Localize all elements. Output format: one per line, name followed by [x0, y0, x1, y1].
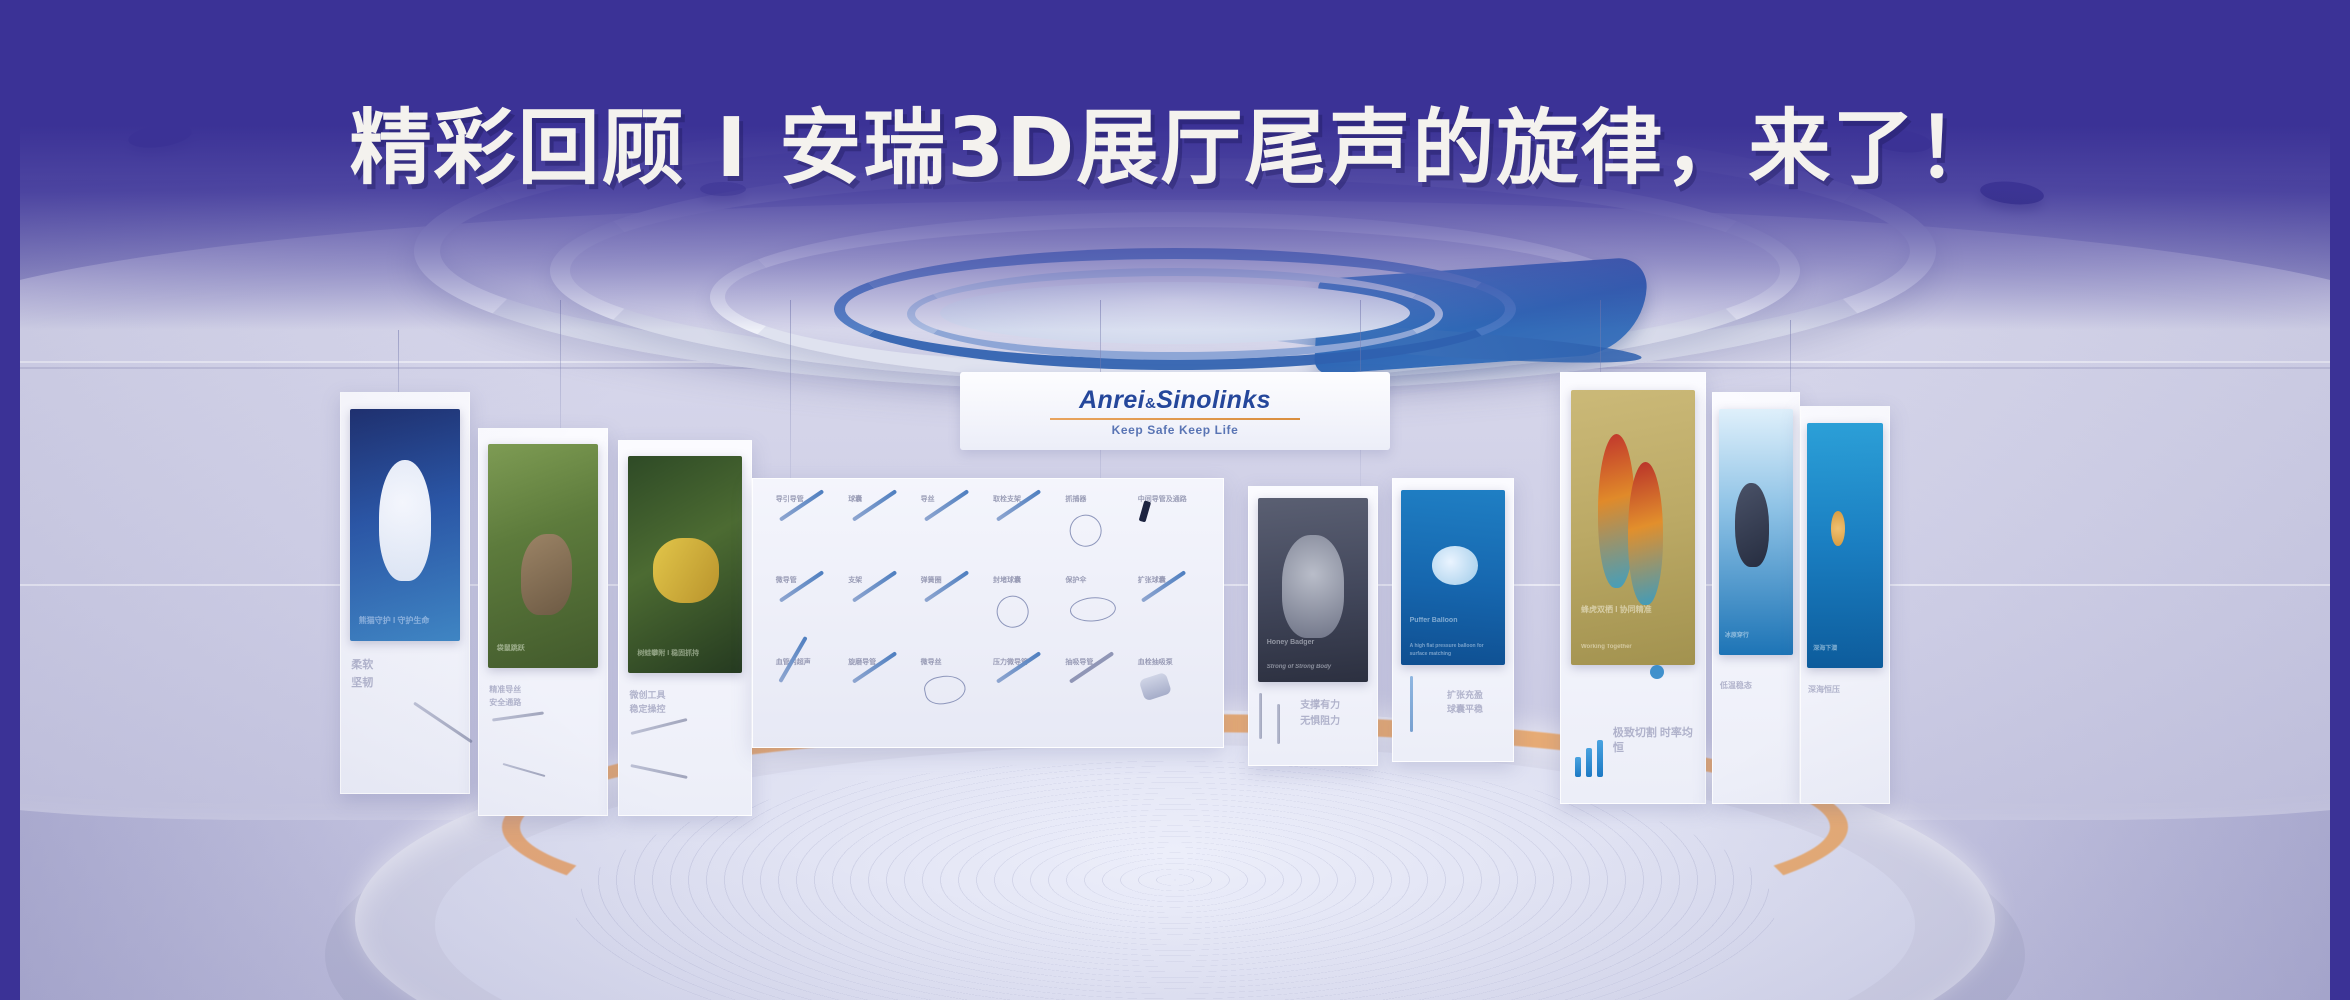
panel-note: 精准导丝 安全通路 — [489, 684, 597, 710]
product-label: 旋磨导管 — [848, 657, 876, 667]
device-sketch-icon — [413, 702, 473, 744]
brand-name-right: Sinolinks — [1156, 386, 1271, 414]
brand-tagline: Keep Safe Keep Life — [1112, 423, 1239, 437]
product-grid: 导引导管 球囊 导丝 取栓支架 抓捕器 中间导管及通路 微导管 支架 弹簧圈 封… — [772, 492, 1204, 733]
poster-headline: 蜂虎双栖 I 协同精准 — [1581, 604, 1685, 616]
product-cell[interactable]: 导引导管 — [772, 492, 842, 571]
product-cell[interactable]: 抽吸导管 — [1061, 655, 1131, 734]
product-cell[interactable]: 中间导管及通路 — [1134, 492, 1204, 571]
product-cell[interactable]: 抓捕器 — [1061, 492, 1131, 571]
display-panel-panda[interactable]: 熊猫守护 I 守护生命 柔软 坚韧 — [340, 392, 470, 794]
device-icon — [1139, 672, 1173, 702]
product-cell[interactable]: 保护伞 — [1061, 573, 1131, 652]
panel-note: 支撑有力 无惧阻力 — [1300, 698, 1367, 730]
product-label: 支架 — [848, 575, 862, 585]
poster-headline: 树蛙攀附 I 稳固抓持 — [637, 649, 732, 660]
poster-headline: Honey Badger — [1267, 638, 1360, 649]
poster-headline: 冰原穿行 — [1725, 632, 1787, 641]
brand-logo-band: Anrei&Sinolinks Keep Safe Keep Life — [960, 372, 1390, 450]
product-cell[interactable]: 支架 — [844, 573, 914, 652]
poster-subtext: Strong of Strong Body — [1267, 663, 1360, 672]
panel-note: 扩张充盈 球囊平稳 — [1447, 688, 1503, 717]
display-panel-frog[interactable]: 树蛙攀附 I 稳固抓持 微创工具 稳定操控 — [618, 440, 752, 816]
device-sketch-icon — [503, 763, 546, 777]
product-label: 封堵球囊 — [993, 575, 1021, 585]
panel-note: 深海恒压 — [1808, 684, 1882, 697]
display-panel-birds[interactable]: 蜂虎双栖 I 协同精准 Working Together 极致切割 时率均恒 — [1560, 372, 1706, 804]
product-label: 弹簧圈 — [921, 575, 942, 585]
product-cell[interactable]: 压力微导管 — [989, 655, 1059, 734]
product-cell[interactable]: 微导管 — [772, 573, 842, 652]
brand-ampersand: & — [1145, 395, 1156, 412]
poster-subtext: A high flat pressure balloon for surface… — [1410, 643, 1497, 658]
product-cell[interactable]: 扩张球囊 — [1134, 573, 1204, 652]
device-icon — [1067, 511, 1105, 549]
mini-bar-chart — [1575, 717, 1603, 777]
device-sketch-icon — [1410, 676, 1413, 732]
brand-underline — [1050, 418, 1300, 420]
product-cell[interactable]: 取栓支架 — [989, 492, 1059, 571]
poster-sea: 深海下潜 — [1807, 423, 1883, 669]
mini-chart-caption: 极致切割 时率均恒 — [1613, 726, 1694, 757]
product-label: 微导管 — [776, 575, 797, 585]
info-icon — [1650, 665, 1664, 679]
product-cell[interactable]: 球囊 — [844, 492, 914, 571]
poster-panda: 熊猫守护 I 守护生命 — [350, 409, 460, 641]
device-sketch-icon — [1277, 704, 1280, 744]
poster-subtext: Working Together — [1581, 643, 1685, 652]
product-label: 抓捕器 — [1065, 494, 1086, 504]
device-sketch-icon — [492, 711, 544, 721]
poster-headline: Puffer Balloon — [1410, 616, 1497, 627]
poster-headline: 袋鼠跳跃 — [497, 644, 590, 655]
product-label: 血栓抽吸泵 — [1138, 657, 1173, 667]
product-cell[interactable]: 血管内超声 — [772, 655, 842, 734]
product-cell[interactable]: 旋磨导管 — [844, 655, 914, 734]
display-panel-balloon[interactable]: Puffer Balloon A high flat pressure ball… — [1392, 478, 1514, 762]
product-cell[interactable]: 封堵球囊 — [989, 573, 1059, 652]
panel-note: 柔软 坚韧 — [351, 657, 459, 692]
ceiling-center-disc — [940, 282, 1410, 344]
device-sketch-icon — [630, 764, 687, 779]
poster-frog: 树蛙攀附 I 稳固抓持 — [628, 456, 742, 673]
poster-birds: 蜂虎双栖 I 协同精准 Working Together — [1571, 390, 1695, 665]
brand-name: Anrei&Sinolinks — [1079, 386, 1271, 415]
poster-balloon: Puffer Balloon A high flat pressure ball… — [1401, 490, 1504, 665]
bar — [1586, 748, 1592, 777]
display-panel-badger[interactable]: Honey Badger Strong of Strong Body 支撑有力 … — [1248, 486, 1378, 766]
exhibition-banner: 熊猫守护 I 守护生命 柔软 坚韧 袋鼠跳跃 精准导丝 安全通路 树蛙攀附 I … — [0, 0, 2350, 1000]
brand-name-left: Anrei — [1079, 386, 1145, 414]
bar — [1575, 757, 1581, 777]
device-icon — [1069, 596, 1116, 623]
product-display-wall[interactable]: 导引导管 球囊 导丝 取栓支架 抓捕器 中间导管及通路 微导管 支架 弹簧圈 封… — [752, 478, 1224, 748]
product-label: 球囊 — [848, 494, 862, 504]
product-label: 保护伞 — [1065, 575, 1086, 585]
bar — [1597, 740, 1603, 777]
display-panel-ice[interactable]: 冰原穿行 低温稳态 — [1712, 392, 1800, 804]
poster-headline: 熊猫守护 I 守护生命 — [359, 615, 452, 627]
device-sketch-icon — [630, 718, 687, 735]
device-icon — [922, 672, 968, 708]
poster-headline: 深海下潜 — [1813, 645, 1877, 654]
poster-badger: Honey Badger Strong of Strong Body — [1258, 498, 1368, 681]
poster-kangaroo: 袋鼠跳跃 — [488, 444, 598, 668]
poster-ice: 冰原穿行 — [1719, 409, 1793, 655]
product-cell[interactable]: 血栓抽吸泵 — [1134, 655, 1204, 734]
device-sketch-icon — [1259, 693, 1262, 739]
product-label: 微导丝 — [921, 657, 942, 667]
product-cell[interactable]: 微导丝 — [917, 655, 987, 734]
display-panel-sea[interactable]: 深海下潜 深海恒压 — [1800, 406, 1890, 804]
panel-note: 低温稳态 — [1720, 680, 1792, 693]
device-icon — [994, 593, 1032, 631]
product-cell[interactable]: 弹簧圈 — [917, 573, 987, 652]
product-cell[interactable]: 导丝 — [917, 492, 987, 571]
hanging-wire — [790, 300, 791, 500]
page-title: 精彩回顾 I 安瑞3D展厅尾声的旋律，来了！ — [0, 81, 2350, 200]
display-panel-kangaroo[interactable]: 袋鼠跳跃 精准导丝 安全通路 — [478, 428, 608, 816]
product-label: 导丝 — [921, 494, 935, 504]
panel-note: 微创工具 稳定操控 — [630, 688, 741, 717]
